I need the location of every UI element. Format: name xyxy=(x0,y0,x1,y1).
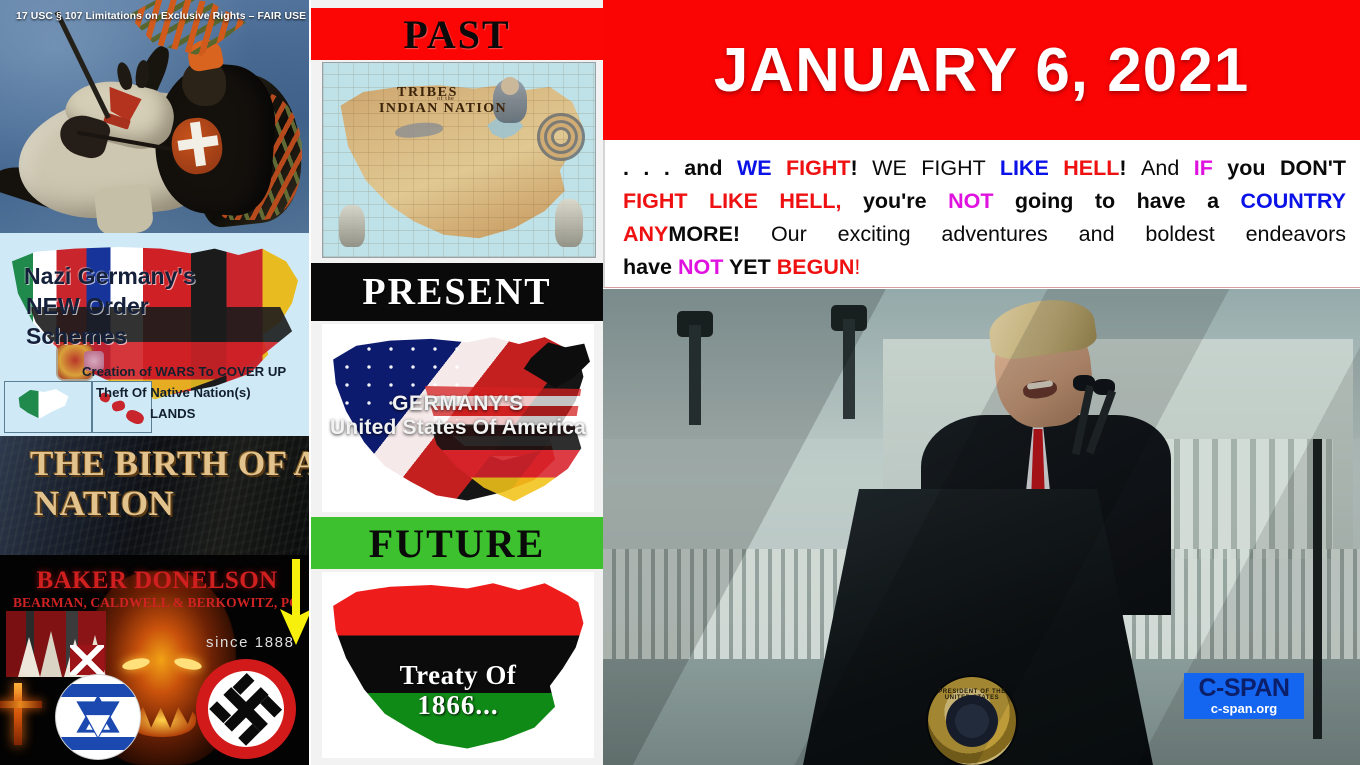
quote-segment: ANY xyxy=(623,222,668,246)
present-band: PRESENT xyxy=(311,263,603,321)
quote-segment: WE xyxy=(737,156,786,180)
quote-segment: NOT xyxy=(948,189,1015,213)
quote-segment: LIKE xyxy=(1000,156,1063,180)
quote-segment: NOT xyxy=(678,255,729,279)
future-overlay-line1: Treaty Of xyxy=(322,660,594,691)
quote-segment: Our exciting adventures and boldest ende… xyxy=(771,222,1346,246)
quote-segment: MORE! xyxy=(668,222,771,246)
quote-segment: ! xyxy=(851,156,873,180)
quote-segment: IF xyxy=(1194,156,1228,180)
baker-donelson-firm-name: BAKER DONELSON xyxy=(12,567,302,595)
headline-banner: JANUARY 6, 2021 xyxy=(603,0,1360,140)
present-overlay-line2: United States Of America xyxy=(322,416,594,440)
germanys-usa-panel: GERMANY'S United States Of America xyxy=(322,324,594,512)
past-band: PAST xyxy=(311,8,603,60)
figure-bottom-right xyxy=(555,199,583,247)
new-order-map-panel: Nazi Germany's NEW Order Schemes Creatio… xyxy=(0,233,309,436)
swastika-glyph xyxy=(209,672,283,746)
klan-photo-inset xyxy=(6,611,106,677)
new-order-title-line3: Schemes xyxy=(26,323,127,350)
quote-segment: YET xyxy=(729,255,777,279)
confederate-flag-icon xyxy=(70,645,104,675)
quote-segment: WE FIGHT xyxy=(872,156,1000,180)
quote-line: FIGHT LIKE HELL, you're NOT going to hav… xyxy=(623,185,1346,218)
swastika-flag-icon xyxy=(196,659,296,759)
quote-segment: BEGUN xyxy=(777,255,855,279)
quote-segment: ! xyxy=(1119,156,1141,180)
collage-canvas: 17 USC § 107 Limitations on Exclusive Ri… xyxy=(0,0,1360,765)
star-of-david-icon xyxy=(75,694,121,740)
quote-line: have NOT YET BEGUN! xyxy=(623,251,1346,284)
quote-segment: DON'T xyxy=(1280,156,1346,180)
fair-use-notice: 17 USC § 107 Limitations on Exclusive Ri… xyxy=(16,11,294,22)
quote-segment: you xyxy=(1227,156,1280,180)
present-band-label: PRESENT xyxy=(362,270,551,314)
quote-segment: ! xyxy=(854,255,860,279)
tribes-title-line2: INDIAN NATION xyxy=(379,101,507,117)
quote-block: . . . and WE FIGHT! WE FIGHT LIKE HELL! … xyxy=(603,140,1360,288)
burning-cross-vertical xyxy=(14,683,22,745)
spiral-illustration xyxy=(537,113,585,161)
quote-line: . . . and WE FIGHT! WE FIGHT LIKE HELL! … xyxy=(623,152,1346,185)
warrior-image-panel: 17 USC § 107 Limitations on Exclusive Ri… xyxy=(0,0,309,233)
burning-cross-horizontal xyxy=(0,701,42,708)
swastika-arm-d xyxy=(260,696,282,718)
baker-donelson-panel: BAKER DONELSON BEARMAN, CALDWELL & BERKO… xyxy=(0,555,309,765)
hood-figure xyxy=(40,631,62,677)
quote-segment: FIGHT xyxy=(786,156,851,180)
new-order-subtitle-line2: Theft Of Native Nation(s) xyxy=(96,385,251,400)
future-band: FUTURE xyxy=(311,517,603,569)
right-column: JANUARY 6, 2021 . . . and WE FIGHT! WE F… xyxy=(603,0,1360,765)
future-overlay-line2: 1866... xyxy=(322,690,594,721)
quote-segment: have xyxy=(623,255,678,279)
birth-title-line2: NATION xyxy=(34,484,174,524)
quote-segment: going to have a xyxy=(1015,189,1241,213)
present-overlay-line1: GERMANY'S xyxy=(322,392,594,416)
hood-figure xyxy=(18,637,40,677)
quote-segment: you're xyxy=(863,189,948,213)
left-column: 17 USC § 107 Limitations on Exclusive Ri… xyxy=(0,0,309,765)
new-order-subtitle-line3: LANDS xyxy=(150,406,195,421)
cspan-url-text: c-span.org xyxy=(1211,701,1277,716)
cspan-logo-text: C-SPAN xyxy=(1199,676,1290,701)
new-order-title-line1: Nazi Germany's xyxy=(24,263,196,290)
quote-segment: . . . and xyxy=(623,156,737,180)
middle-column: PAST TRIBES of the INDIAN NATION PRESENT xyxy=(311,0,603,765)
chief-head xyxy=(501,77,519,95)
figure-bottom-left xyxy=(339,205,365,247)
quote-segment: HELL xyxy=(1063,156,1119,180)
quote-segment: FIGHT LIKE HELL, xyxy=(623,189,863,213)
cspan-watermark: C-SPAN c-span.org xyxy=(1184,673,1304,719)
new-order-title-line2: NEW Order xyxy=(26,293,149,320)
israel-flag-icon xyxy=(56,675,140,759)
tribes-map-panel: TRIBES of the INDIAN NATION xyxy=(322,62,596,258)
future-band-label: FUTURE xyxy=(369,520,545,567)
baker-donelson-firm-subtitle: BEARMAN, CALDWELL & BERKOWITZ, PC xyxy=(8,595,304,611)
swastika-white-disc xyxy=(208,671,284,747)
headline-text: JANUARY 6, 2021 xyxy=(714,35,1249,106)
quote-line: ANYMORE! Our exciting adventures and bol… xyxy=(623,218,1346,251)
new-order-subtitle-line1: Creation of WARS To COVER UP xyxy=(82,364,286,379)
horse-leg xyxy=(94,183,155,233)
birth-title-line1: THE BIRTH OF A xyxy=(30,444,309,484)
treaty-1866-panel: Treaty Of 1866... xyxy=(322,572,594,758)
yellow-arrow-icon xyxy=(278,559,309,645)
quote-segment: And xyxy=(1141,156,1194,180)
birth-of-a-nation-panel: THE BIRTH OF A NATION xyxy=(0,436,309,555)
quote-segment: COUNTRY xyxy=(1240,189,1346,213)
past-band-label: PAST xyxy=(403,11,510,58)
